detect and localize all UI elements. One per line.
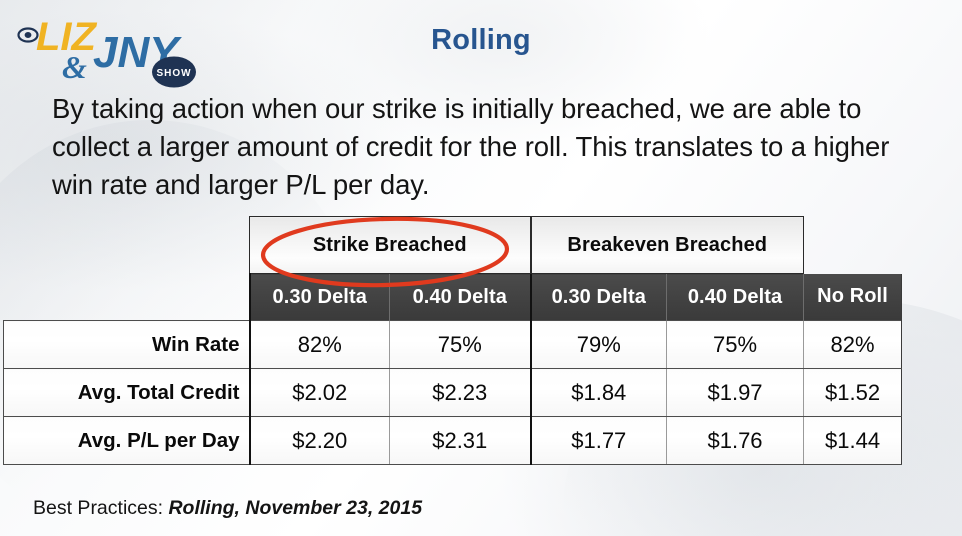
table-group-header-row: Strike Breached Breakeven Breached bbox=[4, 217, 902, 274]
results-table-container: Strike Breached Breakeven Breached 0.30 … bbox=[3, 216, 901, 465]
cell-avg-pl-per-day-breakeven-030: $1.77 bbox=[531, 417, 667, 465]
sub-header-breakeven-030-delta: 0.30 Delta bbox=[531, 274, 667, 321]
sub-header-breakeven-040-delta: 0.40 Delta bbox=[667, 274, 804, 321]
cell-avg-total-credit-no-roll: $1.52 bbox=[804, 369, 902, 417]
slide-canvas: LIZ JNY & SHOW Rolling By taking action … bbox=[0, 0, 962, 536]
group-header-blank-left bbox=[4, 217, 250, 274]
cell-avg-total-credit-strike-030: $2.02 bbox=[250, 369, 390, 417]
logo-show-text: SHOW bbox=[156, 68, 191, 79]
table-row: Win Rate 82% 75% 79% 75% 82% bbox=[4, 321, 902, 369]
cell-avg-pl-per-day-breakeven-040: $1.76 bbox=[667, 417, 804, 465]
group-header-breakeven-breached: Breakeven Breached bbox=[531, 217, 804, 274]
row-label-avg-pl-per-day: Avg. P/L per Day bbox=[4, 417, 250, 465]
cell-avg-pl-per-day-no-roll: $1.44 bbox=[804, 417, 902, 465]
footer-source-note: Best Practices: Rolling, November 23, 20… bbox=[33, 497, 422, 520]
page-title: Rolling bbox=[0, 24, 962, 57]
footer-prefix: Best Practices: bbox=[33, 497, 168, 519]
cell-avg-pl-per-day-strike-030: $2.20 bbox=[250, 417, 390, 465]
group-header-blank-right bbox=[804, 217, 902, 274]
cell-win-rate-strike-030: 82% bbox=[250, 321, 390, 369]
group-header-strike-breached: Strike Breached bbox=[250, 217, 531, 274]
footer-reference: Rolling, November 23, 2015 bbox=[168, 497, 422, 519]
table-row: Avg. P/L per Day $2.20 $2.31 $1.77 $1.76… bbox=[4, 417, 902, 465]
cell-avg-total-credit-breakeven-040: $1.97 bbox=[667, 369, 804, 417]
row-label-avg-total-credit: Avg. Total Credit bbox=[4, 369, 250, 417]
sub-header-strike-030-delta: 0.30 Delta bbox=[250, 274, 390, 321]
row-label-win-rate: Win Rate bbox=[4, 321, 250, 369]
cell-avg-total-credit-strike-040: $2.23 bbox=[390, 369, 531, 417]
sub-header-no-roll: No Roll bbox=[804, 274, 902, 321]
results-table: Strike Breached Breakeven Breached 0.30 … bbox=[3, 216, 902, 465]
cell-avg-total-credit-breakeven-030: $1.84 bbox=[531, 369, 667, 417]
cell-win-rate-strike-040: 75% bbox=[390, 321, 531, 369]
body-paragraph: By taking action when our strike is init… bbox=[52, 90, 918, 204]
table-row: Avg. Total Credit $2.02 $2.23 $1.84 $1.9… bbox=[4, 369, 902, 417]
cell-win-rate-breakeven-030: 79% bbox=[531, 321, 667, 369]
cell-win-rate-no-roll: 82% bbox=[804, 321, 902, 369]
sub-header-blank bbox=[4, 274, 250, 321]
sub-header-strike-040-delta: 0.40 Delta bbox=[390, 274, 531, 321]
table-sub-header-row: 0.30 Delta 0.40 Delta 0.30 Delta 0.40 De… bbox=[4, 274, 902, 321]
cell-win-rate-breakeven-040: 75% bbox=[667, 321, 804, 369]
cell-avg-pl-per-day-strike-040: $2.31 bbox=[390, 417, 531, 465]
